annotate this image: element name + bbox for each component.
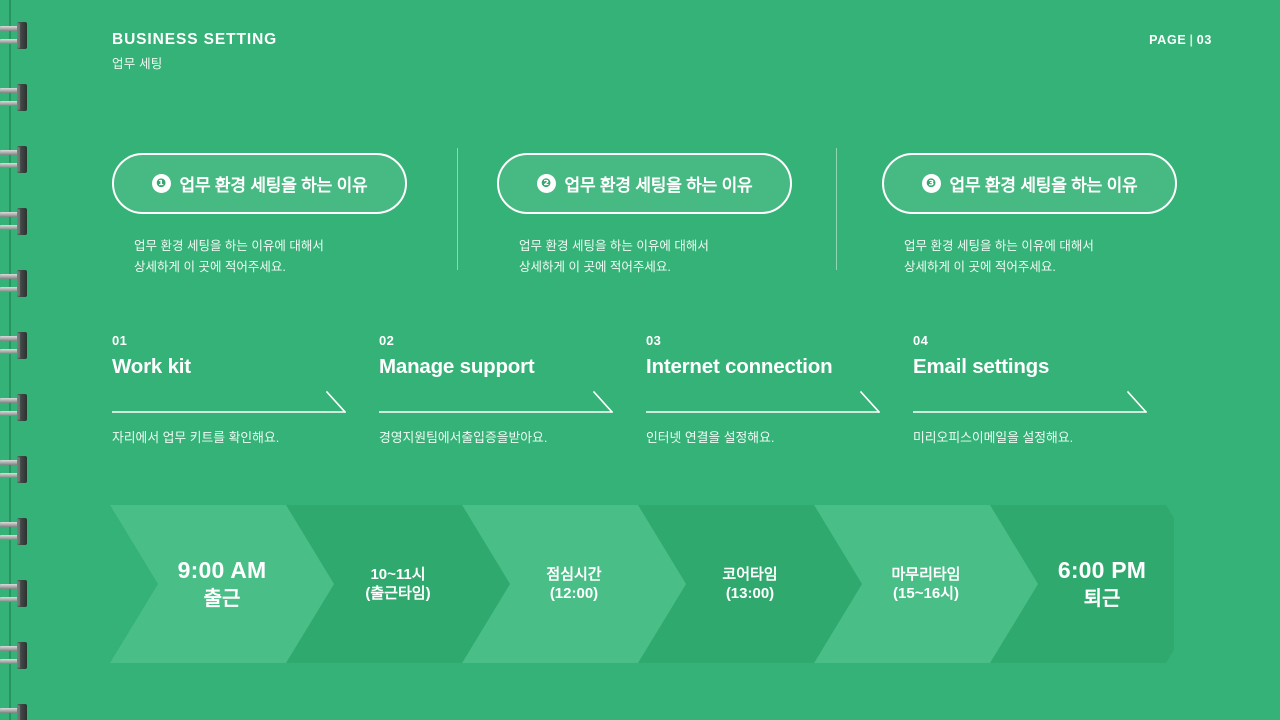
- binding-ring: [0, 704, 27, 720]
- timeline-label-group: 9:00 AM출근10~11시(출근타임)점심시간(12:00)코어타임(13:…: [110, 505, 1174, 663]
- step-number: 02: [379, 333, 646, 348]
- timeline-item-primary: 마무리타임: [891, 565, 960, 585]
- binding-ring-highlight: [17, 271, 20, 296]
- binding-ring-highlight: [17, 581, 20, 606]
- timeline-item[interactable]: 점심시간(12:00): [484, 505, 664, 663]
- binding-ring: [0, 84, 27, 114]
- page-number-label: PAGE: [1149, 33, 1186, 47]
- step-number: 01: [112, 333, 379, 348]
- reason-card-title: 업무 환경 세팅을 하는 이유: [180, 171, 368, 196]
- reason-card-pill[interactable]: ❸업무 환경 세팅을 하는 이유: [882, 153, 1177, 214]
- binding-ring: [0, 456, 27, 486]
- page-number-divider: |: [1189, 33, 1193, 47]
- reason-card-number-badge: ❶: [152, 174, 171, 193]
- timeline-item-primary: 코어타임: [722, 565, 777, 585]
- page-subtitle: 업무 세팅: [112, 53, 277, 72]
- timeline-item-secondary: (13:00): [726, 584, 774, 604]
- timeline-item-primary: 9:00 AM: [178, 556, 267, 586]
- timeline-item[interactable]: 9:00 AM출근: [132, 505, 312, 663]
- reason-card-pill[interactable]: ❷업무 환경 세팅을 하는 이유: [497, 153, 792, 214]
- step-arrow-icon: [379, 388, 619, 416]
- step-item[interactable]: 01Work kit자리에서 업무 키트를 확인해요.: [112, 333, 379, 446]
- binding-ring-highlight: [17, 395, 20, 420]
- binding-ring: [0, 270, 27, 300]
- step-item[interactable]: 04Email settings미리오피스이메일을 설정해요.: [913, 333, 1180, 446]
- slide-header: BUSINESS SETTING 업무 세팅: [112, 30, 277, 72]
- step-number: 03: [646, 333, 913, 348]
- reason-card[interactable]: ❸업무 환경 세팅을 하는 이유업무 환경 세팅을 하는 이유에 대해서 상세하…: [882, 153, 1177, 277]
- step-description: 인터넷 연결을 설정해요.: [646, 427, 913, 446]
- timeline-item-secondary: 출근: [204, 586, 241, 612]
- daily-timeline: 9:00 AM출근10~11시(출근타임)점심시간(12:00)코어타임(13:…: [110, 505, 1174, 663]
- page-title: BUSINESS SETTING: [112, 30, 277, 49]
- step-item[interactable]: 02Manage support경영지원팀에서출입증을받아요.: [379, 333, 646, 446]
- binding-ring: [0, 394, 27, 424]
- timeline-item-secondary: 퇴근: [1084, 586, 1121, 612]
- binding-ring-highlight: [17, 457, 20, 482]
- binding-ring-highlight: [17, 519, 20, 544]
- binding-ring-highlight: [17, 209, 20, 234]
- binding-ring-highlight: [17, 147, 20, 172]
- step-arrow-icon: [913, 388, 1153, 416]
- reason-card-number-badge: ❷: [537, 174, 556, 193]
- binding-ring: [0, 580, 27, 610]
- reason-card-description: 업무 환경 세팅을 하는 이유에 대해서 상세하게 이 곳에 적어주세요.: [904, 236, 1177, 277]
- timeline-item[interactable]: 마무리타임(15~16시): [836, 505, 1016, 663]
- step-arrow-icon: [646, 388, 886, 416]
- binding-ring-highlight: [17, 23, 20, 48]
- binding-ring-highlight: [17, 85, 20, 110]
- step-group: 01Work kit자리에서 업무 키트를 확인해요.02Manage supp…: [112, 333, 1180, 446]
- page-number-value: 03: [1197, 33, 1212, 47]
- reason-card-description: 업무 환경 세팅을 하는 이유에 대해서 상세하게 이 곳에 적어주세요.: [519, 236, 792, 277]
- binding-ring: [0, 146, 27, 176]
- step-title: Work kit: [112, 355, 379, 379]
- binding-ring: [0, 22, 27, 52]
- timeline-item-secondary: (12:00): [550, 584, 598, 604]
- reason-card-number-badge: ❸: [922, 174, 941, 193]
- reason-card-title: 업무 환경 세팅을 하는 이유: [565, 171, 753, 196]
- binding-ring: [0, 642, 27, 672]
- reason-card-pill[interactable]: ❶업무 환경 세팅을 하는 이유: [112, 153, 407, 214]
- reason-card-description: 업무 환경 세팅을 하는 이유에 대해서 상세하게 이 곳에 적어주세요.: [134, 236, 407, 277]
- timeline-item-secondary: (출근타임): [365, 584, 430, 604]
- binding-ring-highlight: [17, 705, 20, 720]
- binding-ring-highlight: [17, 333, 20, 358]
- page-number: PAGE|03: [1149, 33, 1212, 47]
- step-title: Email settings: [913, 355, 1180, 379]
- slide-canvas: BUSINESS SETTING 업무 세팅 PAGE|03 ❶업무 환경 세팅…: [0, 0, 1280, 720]
- timeline-item-primary: 6:00 PM: [1058, 556, 1146, 586]
- step-title: Internet connection: [646, 355, 913, 379]
- timeline-item[interactable]: 코어타임(13:00): [660, 505, 840, 663]
- reason-card[interactable]: ❶업무 환경 세팅을 하는 이유업무 환경 세팅을 하는 이유에 대해서 상세하…: [112, 153, 407, 277]
- timeline-item-primary: 점심시간: [546, 565, 601, 585]
- binding-ring: [0, 332, 27, 362]
- binding-ring-highlight: [17, 643, 20, 668]
- timeline-item[interactable]: 10~11시(출근타임): [308, 505, 488, 663]
- timeline-item-primary: 10~11시: [370, 565, 425, 585]
- step-description: 자리에서 업무 키트를 확인해요.: [112, 427, 379, 446]
- reason-card[interactable]: ❷업무 환경 세팅을 하는 이유업무 환경 세팅을 하는 이유에 대해서 상세하…: [497, 153, 792, 277]
- reason-card-group: ❶업무 환경 세팅을 하는 이유업무 환경 세팅을 하는 이유에 대해서 상세하…: [112, 153, 1177, 277]
- step-title: Manage support: [379, 355, 646, 379]
- step-description: 경영지원팀에서출입증을받아요.: [379, 427, 646, 446]
- step-number: 04: [913, 333, 1180, 348]
- reason-card-title: 업무 환경 세팅을 하는 이유: [950, 171, 1138, 196]
- binding-ring: [0, 208, 27, 238]
- step-item[interactable]: 03Internet connection인터넷 연결을 설정해요.: [646, 333, 913, 446]
- step-description: 미리오피스이메일을 설정해요.: [913, 427, 1180, 446]
- timeline-item[interactable]: 6:00 PM퇴근: [1012, 505, 1192, 663]
- step-arrow-icon: [112, 388, 352, 416]
- timeline-item-secondary: (15~16시): [893, 584, 959, 604]
- spiral-binding: [0, 0, 34, 720]
- binding-ring: [0, 518, 27, 548]
